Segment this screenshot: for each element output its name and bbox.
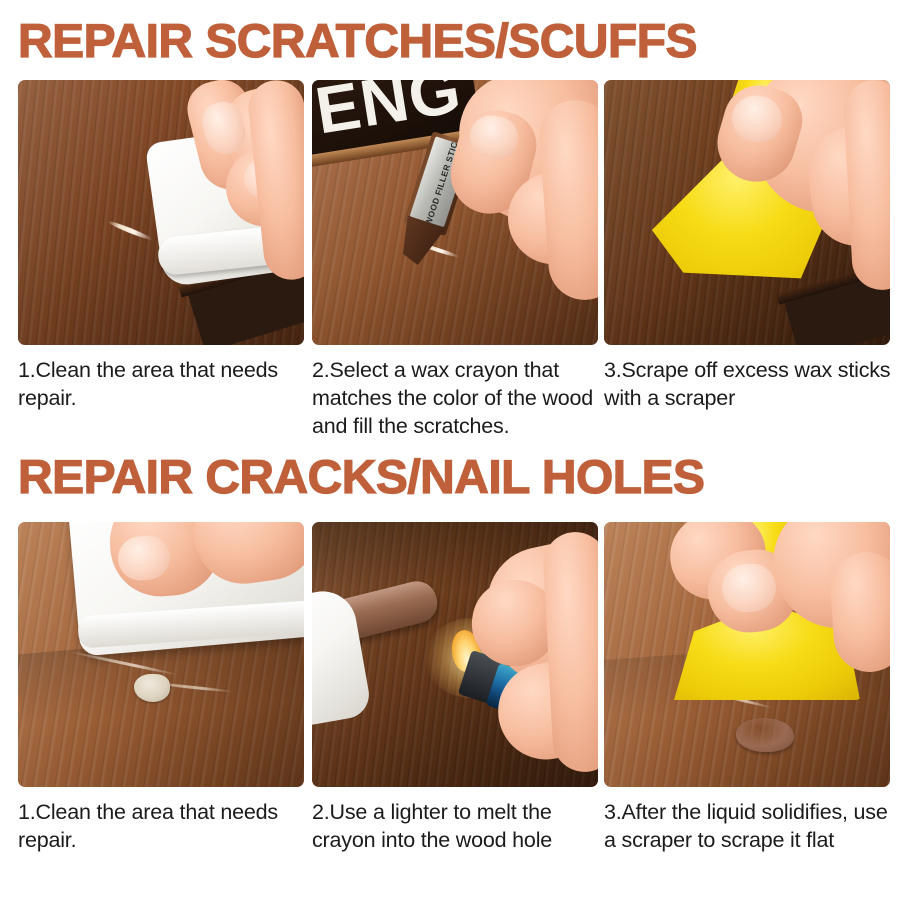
section-heading-repair-scratches: REPAIR SCRATCHES/SCUFFS — [18, 16, 697, 66]
infographic-page: REPAIR SCRATCHES/SCUFFS 1.Clean the area… — [0, 0, 900, 900]
step-photo-clean-scratch — [18, 80, 304, 345]
step-caption: 3.After the liquid solidifies, use a scr… — [604, 798, 892, 854]
step-photo-clean-hole — [18, 522, 304, 787]
section-1-steps-row: 1.Clean the area that needs repair. ENG … — [0, 80, 900, 440]
step-caption: 1.Clean the area that needs repair. — [18, 356, 306, 412]
step-caption: 1.Clean the area that needs repair. — [18, 798, 306, 854]
step-caption: 2.Select a wax crayon that matches the c… — [312, 356, 600, 440]
step-caption: 3.Scrape off excess wax sticks with a sc… — [604, 356, 892, 412]
section-2-steps-row: 1.Clean the area that needs repair. 2.Us… — [0, 522, 900, 882]
step-photo-melt-crayon — [312, 522, 598, 787]
step-caption: 2.Use a lighter to melt the crayon into … — [312, 798, 600, 854]
section-heading-repair-cracks: REPAIR CRACKS/NAIL HOLES — [18, 452, 705, 502]
step-photo-scrape-flat — [604, 522, 890, 787]
step-photo-apply-crayon: ENG WOOD FILLER STICK MAHOGANY — [312, 80, 598, 345]
step-photo-scrape-wax — [604, 80, 890, 345]
solidified-wax-blob — [736, 718, 794, 752]
nail-hole-chip — [134, 674, 170, 702]
